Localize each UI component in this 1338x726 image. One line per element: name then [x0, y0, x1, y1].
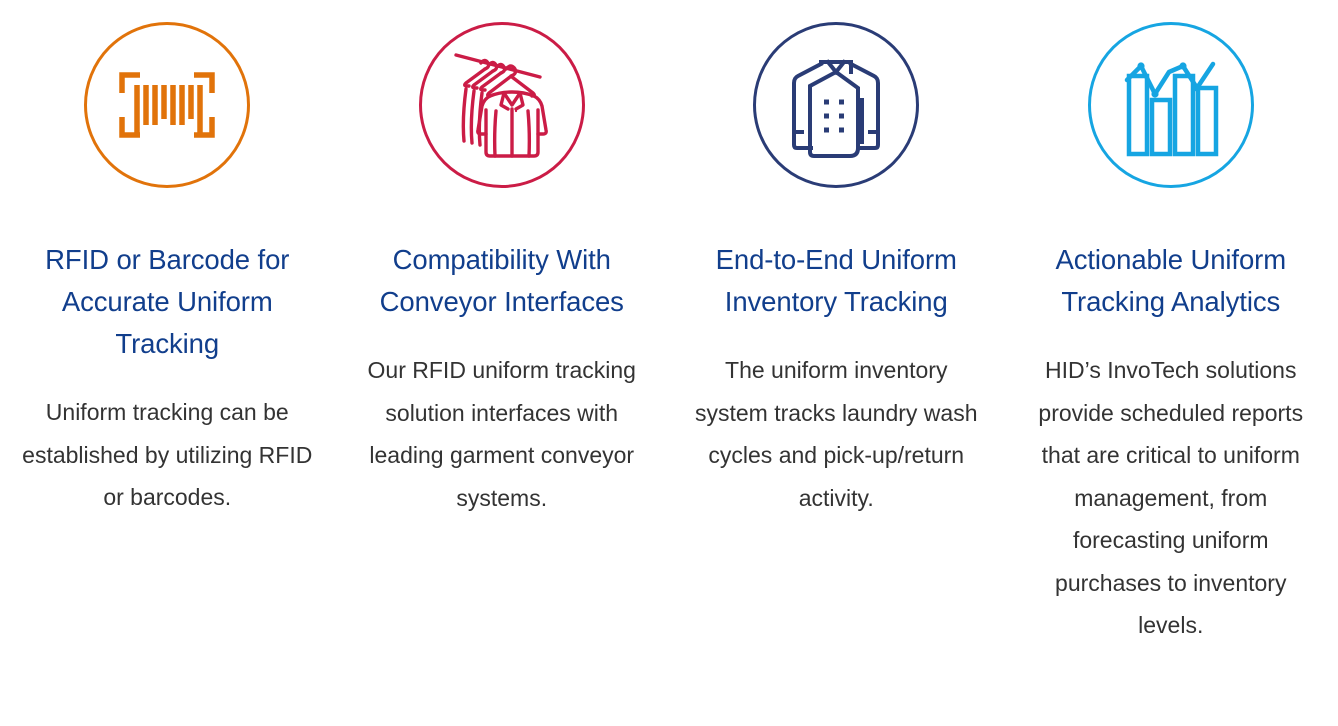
feature-column-analytics: Actionable Uniform Tracking Analytics HI…	[1004, 22, 1338, 647]
feature-column-end-to-end-tracking: End-to-End Uniform Inventory Tracking Th…	[669, 22, 1004, 647]
shirts-on-hangers-icon	[419, 22, 585, 188]
feature-title: RFID or Barcode for Accurate Uniform Tra…	[17, 239, 317, 365]
feature-body: The uniform inventory system tracks laun…	[686, 349, 986, 519]
barcode-scan-icon	[84, 22, 250, 188]
feature-grid: RFID or Barcode for Accurate Uniform Tra…	[0, 0, 1338, 647]
bar-chart-analytics-icon	[1088, 22, 1254, 188]
feature-column-rfid-barcode: RFID or Barcode for Accurate Uniform Tra…	[0, 22, 335, 647]
feature-title: Compatibility With Conveyor Interfaces	[352, 239, 652, 323]
feature-body: Uniform tracking can be established by u…	[17, 391, 317, 519]
feature-body: Our RFID uniform tracking solution inter…	[352, 349, 652, 519]
feature-title: End-to-End Uniform Inventory Tracking	[686, 239, 986, 323]
feature-title: Actionable Uniform Tracking Analytics	[1021, 239, 1321, 323]
feature-body: HID’s InvoTech solutions provide schedul…	[1021, 349, 1321, 647]
chef-coat-icon	[753, 22, 919, 188]
feature-column-conveyor-compatibility: Compatibility With Conveyor Interfaces O…	[335, 22, 670, 647]
